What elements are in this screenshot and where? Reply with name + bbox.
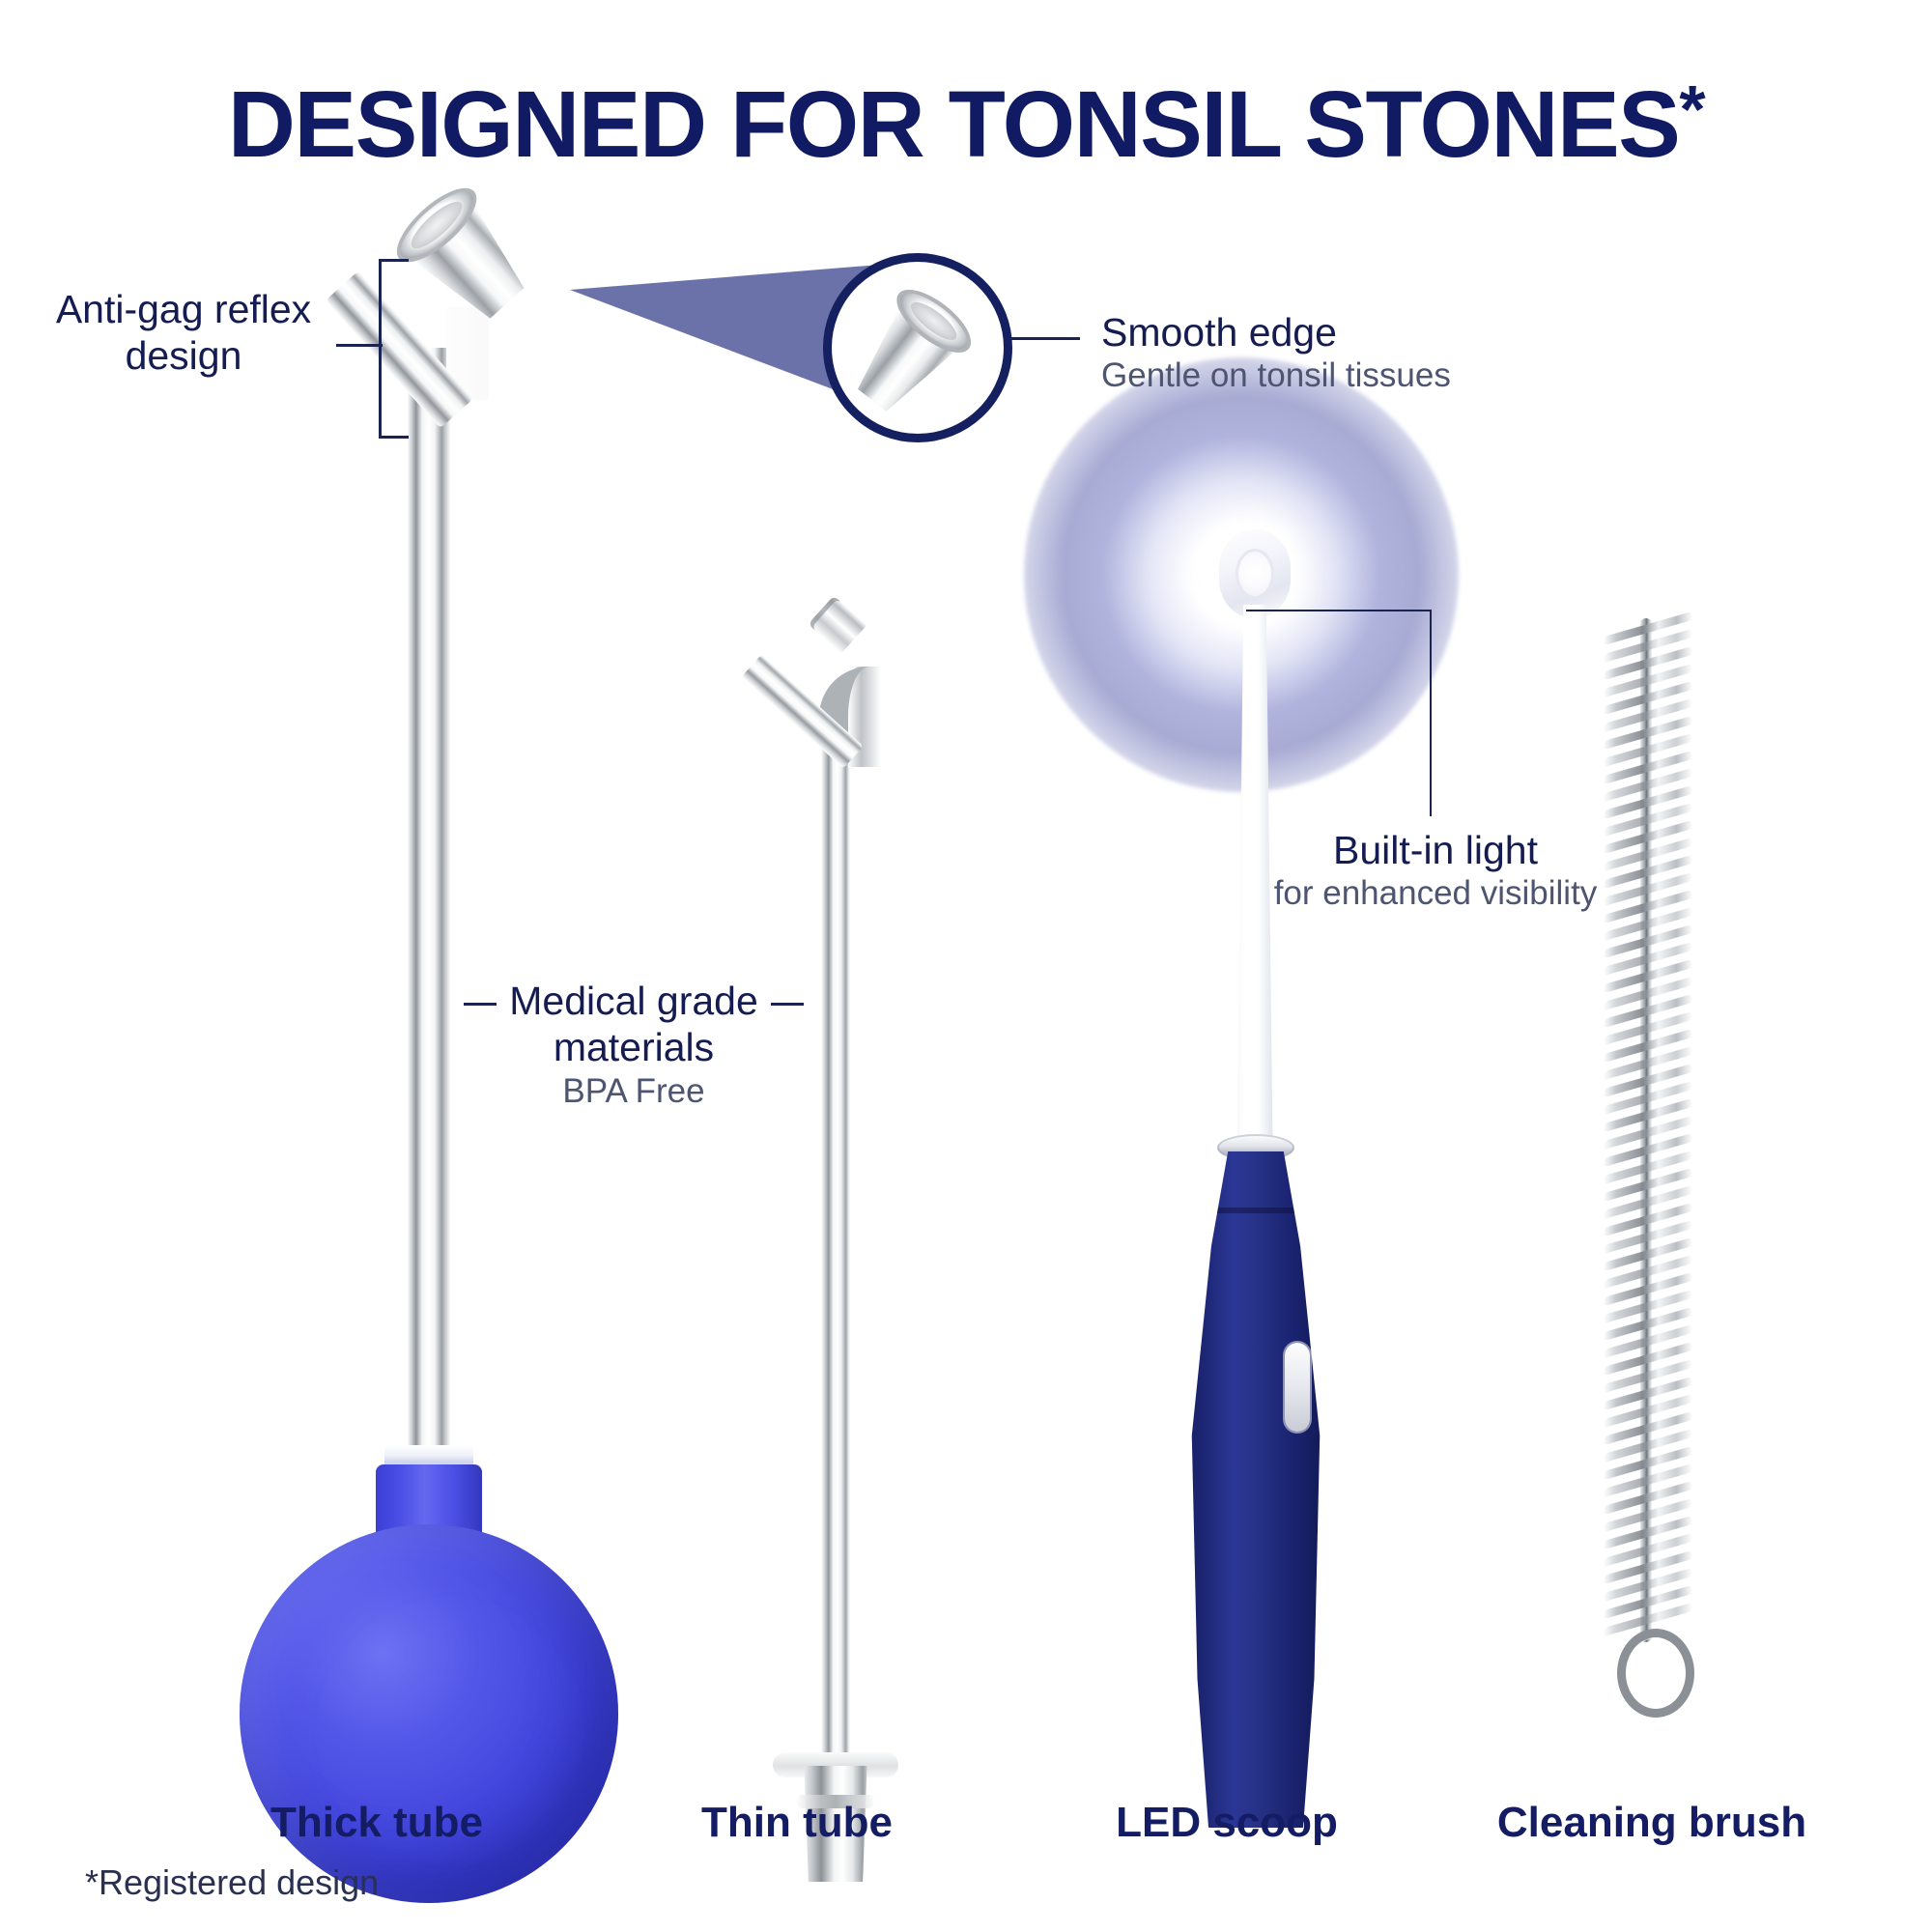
brush-bristles: [1604, 624, 1692, 1629]
anti-gag-stem: [336, 344, 383, 347]
callout-medical-grade-sub: BPA Free: [479, 1071, 788, 1112]
product-label-led-scoop: LED scoop: [1063, 1799, 1391, 1847]
callout-medical-grade-heading-line2: materials: [479, 1024, 788, 1070]
anti-gag-bracket: [379, 259, 409, 439]
thick-tube-shaft: [408, 348, 450, 1459]
thin-tube-tip: [808, 595, 867, 654]
callout-smooth-edge: Smooth edge Gentle on tonsil tissues: [1101, 309, 1507, 396]
brush-loop-handle: [1617, 1629, 1694, 1718]
infographic-canvas: DESIGNED FOR TONSIL STONES*: [0, 0, 1932, 1932]
led-scoop-product: [1130, 415, 1381, 1777]
built-in-light-connector-vertical: [1430, 610, 1432, 816]
callout-smooth-edge-sub: Gentle on tonsil tissues: [1101, 355, 1507, 396]
thin-tube-product: [715, 599, 1005, 1777]
led-scoop-handle: [1186, 1151, 1325, 1828]
page-title: DESIGNED FOR TONSIL STONES*: [0, 75, 1932, 174]
thin-tube-shaft: [821, 734, 850, 1768]
product-label-thin-tube: Thin tube: [633, 1799, 961, 1847]
callout-medical-grade: Medical grade materials BPA Free: [479, 978, 788, 1112]
callout-built-in-light: Built-in light for enhanced visibility: [1256, 827, 1615, 914]
cleaning-brush-product: [1565, 618, 1739, 1777]
page-title-text: DESIGNED FOR TONSIL STONES: [228, 71, 1680, 177]
magnified-cone-tip: [837, 276, 992, 433]
footnote: *Registered design: [85, 1862, 379, 1903]
callout-anti-gag-heading: Anti-gag reflex: [39, 286, 328, 332]
magnifier-bubble: [823, 253, 1012, 442]
callout-built-in-light-sub: for enhanced visibility: [1256, 873, 1615, 914]
led-power-button[interactable]: [1285, 1343, 1310, 1432]
built-in-light-connector-horizontal: [1246, 610, 1432, 611]
product-label-thick-tube: Thick tube: [174, 1799, 580, 1847]
product-label-cleaning-brush: Cleaning brush: [1439, 1799, 1864, 1847]
callout-built-in-light-heading: Built-in light: [1256, 827, 1615, 873]
callout-smooth-edge-heading: Smooth edge: [1101, 309, 1507, 355]
callout-anti-gag-heading-line2: design: [39, 332, 328, 379]
callout-medical-grade-heading: Medical grade: [479, 978, 788, 1024]
callout-anti-gag: Anti-gag reflex design: [39, 286, 328, 380]
title-asterisk: *: [1679, 71, 1704, 147]
smooth-edge-connector: [1010, 337, 1080, 340]
